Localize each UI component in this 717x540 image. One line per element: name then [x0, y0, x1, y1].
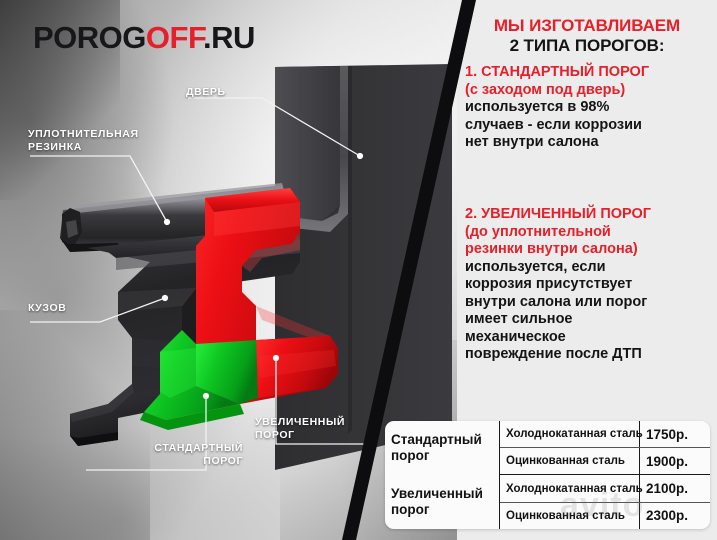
- price-table: Стандартный порог Холоднокатанная сталь …: [385, 421, 710, 529]
- price-value: 1900р.: [640, 448, 711, 475]
- panel-heading-line-1: МЫ ИЗГОТАВЛИВАЕМ: [457, 16, 717, 35]
- price-value: 2100р.: [640, 475, 711, 502]
- info-block-enlarged: 2. УВЕЛИЧЕННЫЙ ПОРОГ (до уплотнительной …: [465, 206, 715, 364]
- callout-label-standard-sill: СТАНДАРТНЫЙ ПОРОГ: [88, 442, 243, 468]
- info-block-enlarged-body: используется, если коррозия присутствует…: [465, 259, 715, 364]
- callout-label-body: КУЗОВ: [28, 302, 66, 315]
- price-material: Оцинкованная сталь: [500, 502, 640, 529]
- promo-banner: POROGOFF.RU: [0, 0, 717, 540]
- info-block-standard-body: используется в 98% случаев - если корроз…: [465, 99, 715, 152]
- price-value: 2300р.: [640, 502, 711, 529]
- info-block-standard: 1. СТАНДАРТНЫЙ ПОРОГ (с заходом под двер…: [465, 64, 715, 152]
- callout-label-enlarged-sill: УВЕЛИЧЕННЫЙ ПОРОГ: [255, 416, 375, 442]
- table-row: Увеличенный порог Холоднокатанная сталь …: [385, 475, 710, 502]
- price-category-standard: Стандартный порог: [385, 421, 500, 475]
- price-table-card: Стандартный порог Холоднокатанная сталь …: [385, 421, 710, 529]
- panel-heading-line-2: 2 ТИПА ПОРОГОВ:: [457, 36, 717, 55]
- info-block-enlarged-title: 2. УВЕЛИЧЕННЫЙ ПОРОГ: [465, 206, 715, 224]
- table-row: Стандартный порог Холоднокатанная сталь …: [385, 421, 710, 448]
- info-block-enlarged-subtitle: (до уплотнительной резинки внутри салона…: [465, 224, 715, 259]
- price-material: Оцинкованная сталь: [500, 448, 640, 475]
- price-material: Холоднокатанная сталь: [500, 475, 640, 502]
- price-material: Холоднокатанная сталь: [500, 421, 640, 448]
- callout-label-door: ДВЕРЬ: [186, 86, 226, 99]
- price-value: 1750р.: [640, 421, 711, 448]
- callout-label-seal: УПЛОТНИТЕЛЬНАЯ РЕЗИНКА: [28, 128, 139, 154]
- info-block-standard-subtitle: (с заходом под дверь): [465, 82, 715, 100]
- price-category-enlarged: Увеличенный порог: [385, 475, 500, 529]
- door-panel-shape: [275, 64, 452, 470]
- info-block-standard-title: 1. СТАНДАРТНЫЙ ПОРОГ: [465, 64, 715, 82]
